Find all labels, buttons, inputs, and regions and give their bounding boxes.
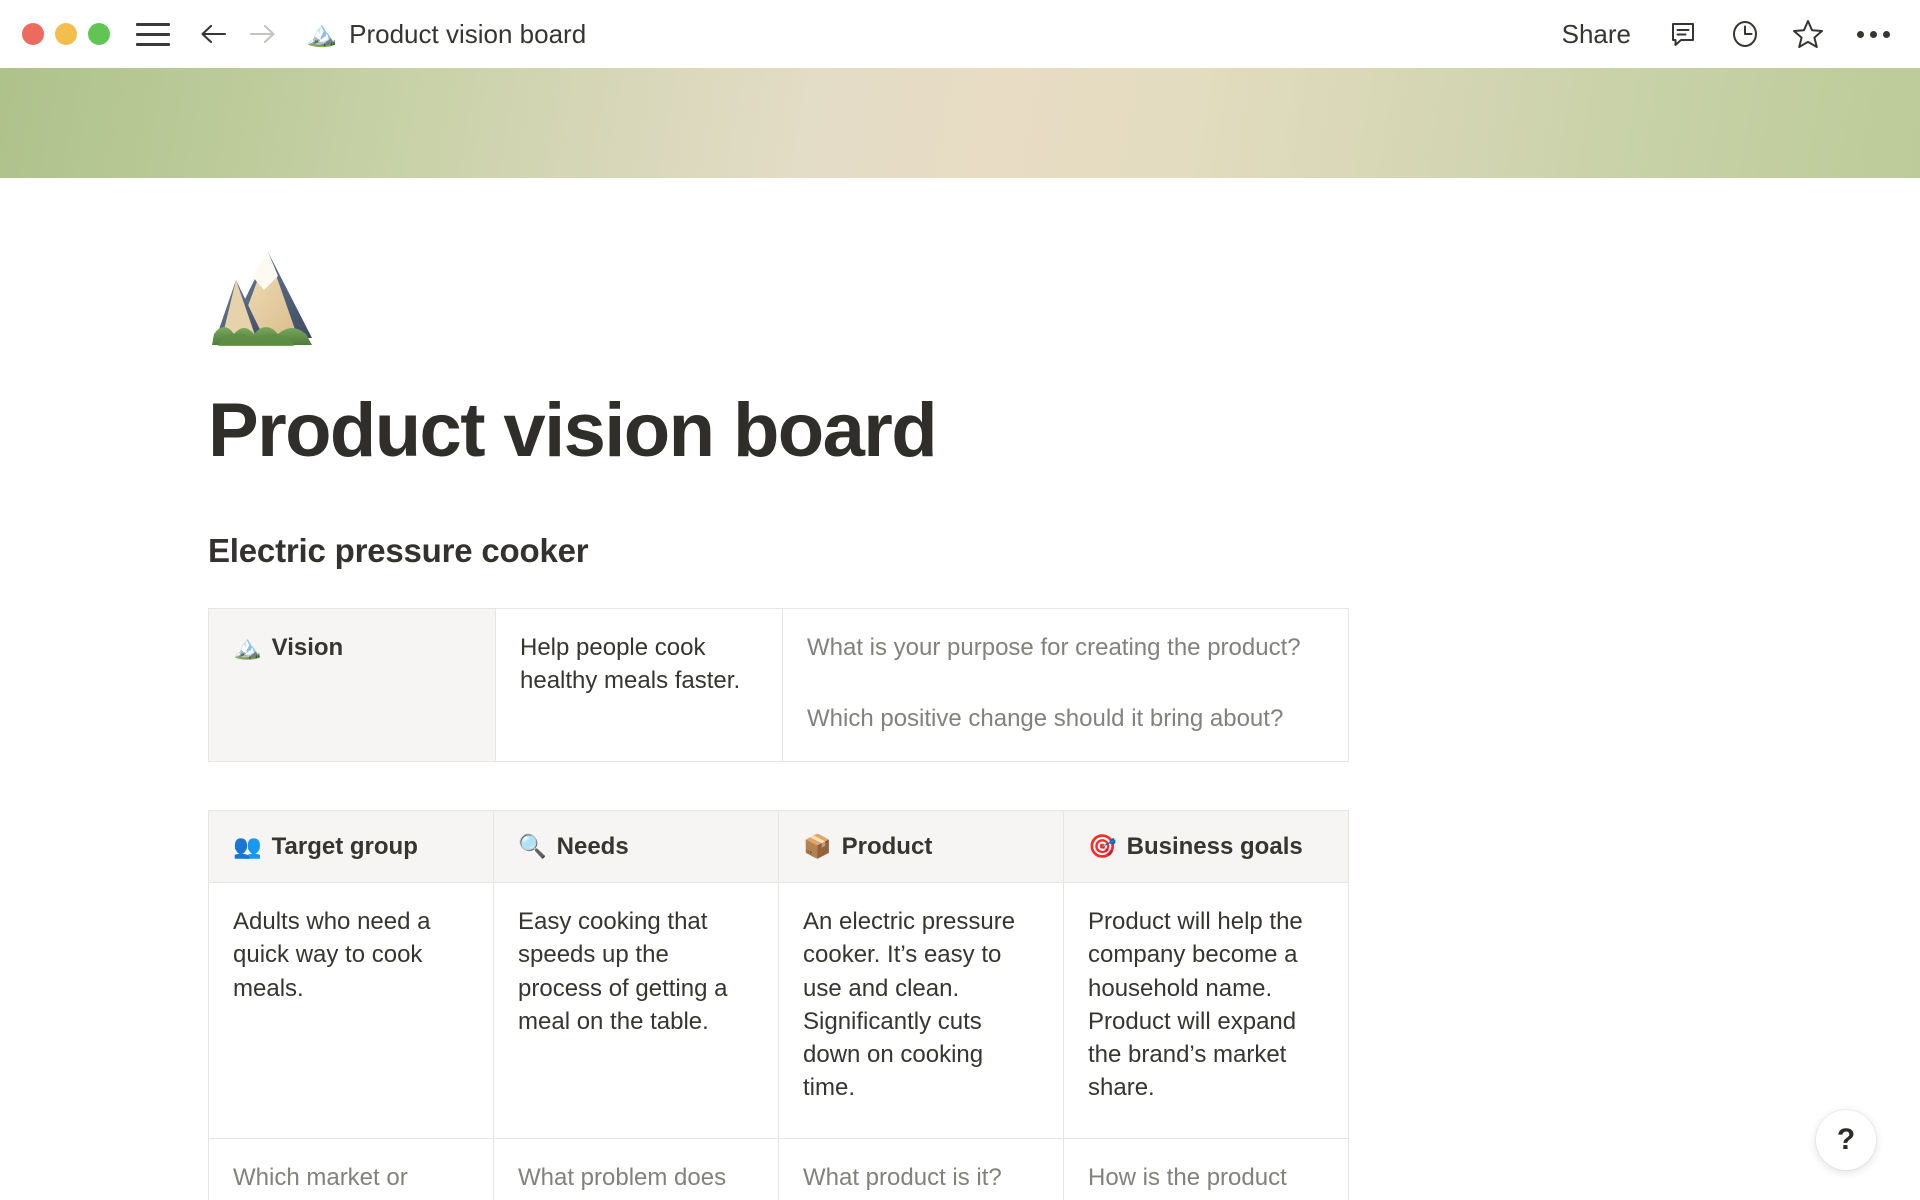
mountain-icon: 🏔️ (306, 22, 337, 47)
column-header-label: Needs (557, 833, 629, 860)
vision-table: 🏔️Vision Help people cook healthy meals … (208, 608, 1349, 762)
table-row: Adults who need a quick way to cook meal… (209, 883, 1349, 1139)
cell-product-placeholder[interactable]: What product is it? (779, 1138, 1064, 1200)
breadcrumb-title: Product vision board (349, 19, 586, 50)
cell-business-goals-value[interactable]: Product will help the company become a h… (1064, 883, 1349, 1139)
table-row: Which market or market segment does this… (209, 1138, 1349, 1200)
maximize-window-button[interactable] (88, 23, 110, 45)
cell-needs-value[interactable]: Easy cooking that speeds up the process … (494, 883, 779, 1139)
minimize-window-button[interactable] (55, 23, 77, 45)
vision-value-cell[interactable]: Help people cook healthy meals faster. (496, 609, 783, 762)
page-cover-image[interactable] (0, 68, 1920, 178)
mountain-icon: 🏔️ (233, 634, 262, 660)
cell-product-value[interactable]: An electric pressure cooker. It’s easy t… (779, 883, 1064, 1139)
back-arrow-icon[interactable] (194, 19, 232, 49)
forward-arrow-icon[interactable] (244, 19, 282, 49)
vision-header-cell[interactable]: 🏔️Vision (209, 609, 496, 762)
vision-placeholder-1: What is your purpose for creating the pr… (807, 631, 1324, 664)
window-title-bar: 🏔️ Product vision board Share (0, 0, 1920, 68)
column-header-label: Product (842, 833, 933, 860)
clock-history-icon[interactable] (1729, 18, 1761, 50)
section-heading[interactable]: Electric pressure cooker (208, 532, 1656, 570)
more-options-icon[interactable] (1855, 25, 1892, 44)
hamburger-menu-icon[interactable] (136, 19, 170, 49)
titlebar-actions: Share (1556, 15, 1892, 54)
column-header-product[interactable]: 📦Product (779, 811, 1064, 883)
help-button[interactable]: ? (1816, 1110, 1876, 1170)
vision-header-label: Vision (272, 634, 344, 661)
cell-business-goals-placeholder[interactable]: How is the product going to benefit the … (1064, 1138, 1349, 1200)
star-icon[interactable] (1791, 17, 1825, 51)
vision-placeholder-cell[interactable]: What is your purpose for creating the pr… (783, 609, 1349, 762)
cell-target-group-value[interactable]: Adults who need a quick way to cook meal… (209, 883, 494, 1139)
vision-placeholder-2: Which positive change should it bring ab… (807, 702, 1324, 735)
column-header-business-goals[interactable]: 🎯Business goals (1064, 811, 1349, 883)
column-header-label: Business goals (1127, 833, 1303, 860)
package-icon: 📦 (803, 833, 832, 859)
column-header-target-group[interactable]: 👥Target group (209, 811, 494, 883)
page-body: Product vision board Electric pressure c… (0, 178, 1920, 1200)
window-traffic-lights (22, 23, 110, 45)
page-content: Product vision board Electric pressure c… (208, 178, 1656, 1200)
cell-needs-placeholder[interactable]: What problem does the product solve? (494, 1138, 779, 1200)
table-header-row: 👥Target group 🔍Needs 📦Product 🎯Business … (209, 811, 1349, 883)
share-button[interactable]: Share (1556, 15, 1637, 54)
vision-board-grid-table: 👥Target group 🔍Needs 📦Product 🎯Business … (208, 810, 1349, 1200)
people-icon: 👥 (233, 833, 262, 859)
column-header-needs[interactable]: 🔍Needs (494, 811, 779, 883)
target-icon: 🎯 (1088, 833, 1117, 859)
breadcrumb[interactable]: 🏔️ Product vision board (306, 19, 586, 50)
comment-icon[interactable] (1667, 18, 1699, 50)
cell-target-group-placeholder[interactable]: Which market or market segment does this… (209, 1138, 494, 1200)
page-title[interactable]: Product vision board (208, 393, 1656, 469)
navigation-arrows (194, 19, 282, 49)
column-header-label: Target group (272, 833, 418, 860)
magnifier-icon: 🔍 (518, 833, 547, 859)
table-row: 🏔️Vision Help people cook healthy meals … (209, 609, 1349, 762)
close-window-button[interactable] (22, 23, 44, 45)
